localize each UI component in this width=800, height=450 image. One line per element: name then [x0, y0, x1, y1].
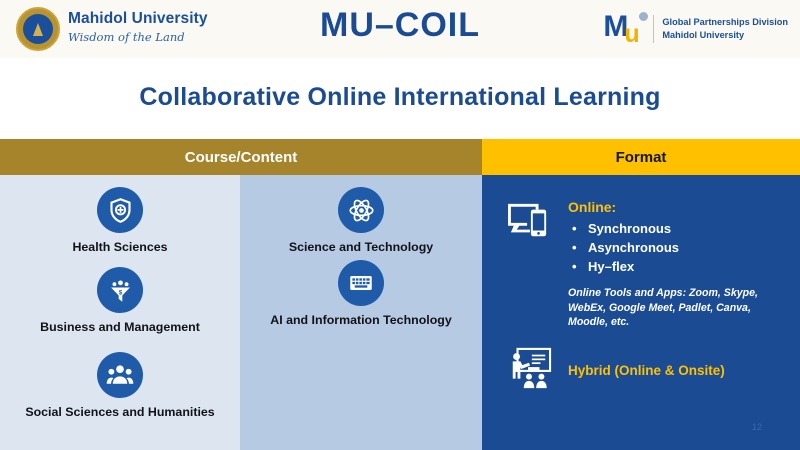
- list-item: Science and Technology: [240, 187, 482, 254]
- shield-health-icon: [97, 187, 143, 233]
- list-item-label: Social Sciences and Humanities: [0, 405, 240, 419]
- globe-icon: [639, 12, 648, 21]
- list-item: $ Business and Management: [0, 267, 240, 334]
- list-item-label: Science and Technology: [240, 240, 482, 254]
- top-header-bar: Mahidol University Wisdom of the Land MU…: [0, 0, 800, 58]
- online-tools-note: Online Tools and Apps: Zoom, Skype, WebE…: [568, 286, 773, 330]
- format-header-label: Format: [616, 149, 667, 166]
- list-item-label: AI and Information Technology: [240, 313, 482, 327]
- online-modes-list: Synchronous Asynchronous Hy–flex: [568, 219, 773, 276]
- gpd-line-2: Mahidol University: [662, 29, 788, 42]
- format-column: Online: Synchronous Asynchronous Hy–flex…: [482, 175, 800, 450]
- course-column-middle: Science and Technology: [240, 175, 482, 450]
- page-title: Collaborative Online International Learn…: [0, 83, 800, 112]
- atom-icon: [338, 187, 384, 233]
- list-item: Asynchronous: [568, 238, 773, 257]
- list-item: AI and Information Technology: [240, 260, 482, 327]
- hybrid-format-block: Hybrid (Online & Onsite): [500, 345, 790, 391]
- course-content-header-label: Course/Content: [185, 149, 298, 166]
- monitor-phone-icon: [500, 199, 558, 241]
- global-partnerships-logo: M u Global Partnerships Division Mahidol…: [603, 8, 788, 50]
- hybrid-label: Hybrid (Online & Onsite): [568, 345, 725, 378]
- online-title: Online:: [568, 199, 773, 215]
- course-content-header-bar: Course/Content: [0, 139, 482, 175]
- format-header-bar: Format: [482, 139, 800, 175]
- gpd-line-1: Global Partnerships Division: [662, 16, 788, 29]
- business-funnel-icon: $: [97, 267, 143, 313]
- list-item: Synchronous: [568, 219, 773, 238]
- hybrid-format-body: Hybrid (Online & Onsite): [558, 345, 725, 378]
- online-format-body: Online: Synchronous Asynchronous Hy–flex…: [558, 199, 773, 330]
- list-item: Social Sciences and Humanities: [0, 352, 240, 419]
- course-column-left: Health Sciences $ Business and Managemen…: [0, 175, 240, 450]
- list-item-label: Health Sciences: [0, 240, 240, 254]
- list-item-label: Business and Management: [0, 320, 240, 334]
- gpd-text: Global Partnerships Division Mahidol Uni…: [662, 16, 788, 42]
- keyboard-icon: [338, 260, 384, 306]
- list-item: Health Sciences: [0, 187, 240, 254]
- gpd-letter-u: u: [624, 22, 639, 47]
- logo-divider: [653, 15, 654, 43]
- online-format-block: Online: Synchronous Asynchronous Hy–flex…: [500, 199, 790, 330]
- slide-root: Mahidol University Wisdom of the Land MU…: [0, 0, 800, 450]
- list-item: Hy–flex: [568, 257, 773, 276]
- page-number: 12: [752, 422, 762, 432]
- gpd-mu-monogram-icon: M u: [603, 10, 649, 48]
- people-group-icon: [97, 352, 143, 398]
- presenter-classroom-icon: [500, 345, 558, 391]
